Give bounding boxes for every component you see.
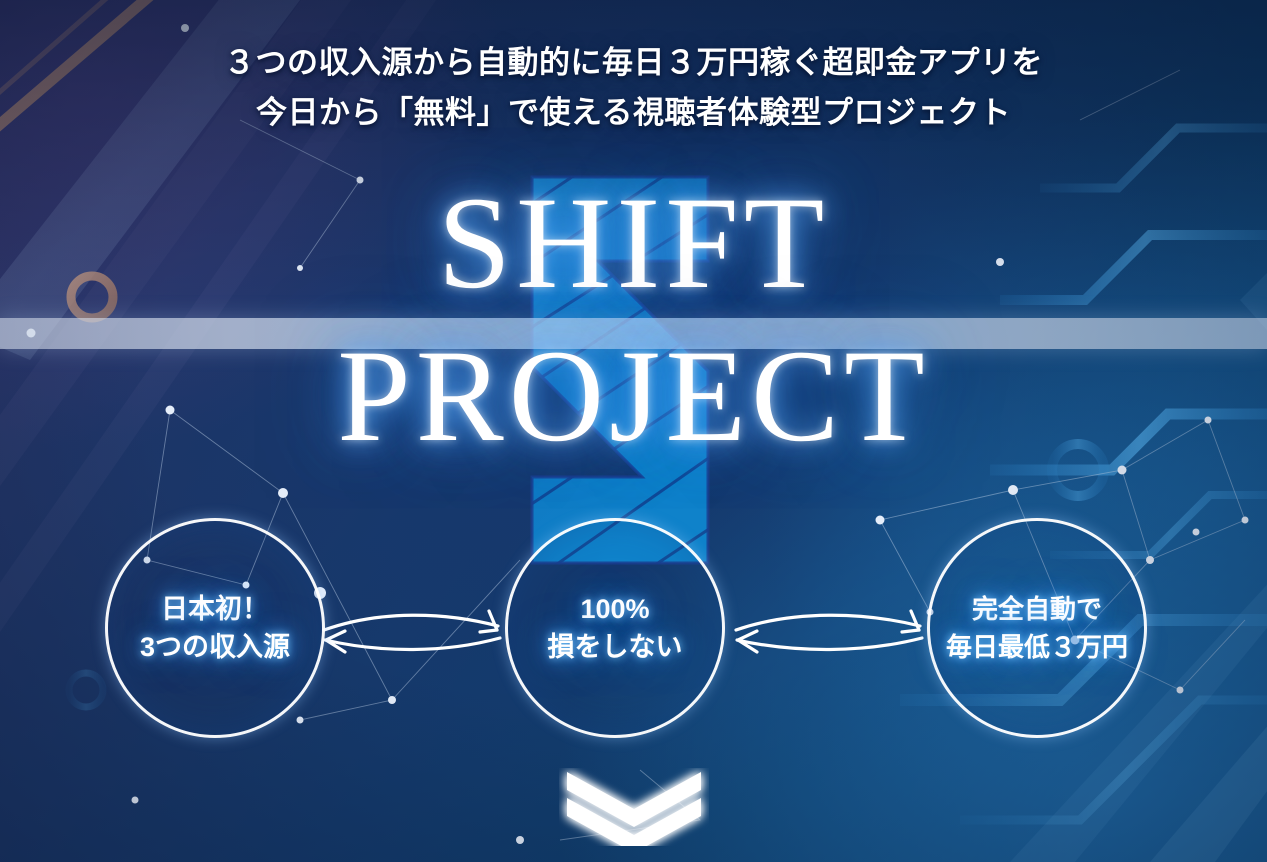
benefit-node-3-line-2: 毎日最低３万円: [946, 628, 1128, 666]
headline: ３つの収入源から自動的に毎日３万円稼ぐ超即金アプリを 今日から「無料」で使える視…: [0, 38, 1267, 138]
benefit-node-3-line-1: 完全自動で: [946, 590, 1128, 628]
benefit-node-3-text: 完全自動で 毎日最低３万円: [946, 590, 1128, 666]
benefit-node-1-line-1: 日本初！: [140, 590, 290, 628]
horizontal-light-band: [0, 318, 1267, 349]
headline-line-1: ３つの収入源から自動的に毎日３万円稼ぐ超即金アプリを: [0, 38, 1267, 88]
benefit-node-3[interactable]: 完全自動で 毎日最低３万円: [927, 518, 1147, 738]
benefit-node-2-line-1: 100%: [548, 590, 683, 628]
hero-section: ３つの収入源から自動的に毎日３万円稼ぐ超即金アプリを 今日から「無料」で使える視…: [0, 0, 1267, 862]
benefit-node-2[interactable]: 100% 損をしない: [505, 518, 725, 738]
benefit-nodes: 日本初！ 3つの収入源 100% 損をしない 完全自動で 毎日最低３万円: [0, 518, 1267, 748]
benefit-node-2-line-2: 損をしない: [548, 628, 683, 666]
benefit-node-1[interactable]: 日本初！ 3つの収入源: [105, 518, 325, 738]
benefit-node-1-line-2: 3つの収入源: [140, 628, 290, 666]
double-chevron-down-icon[interactable]: [559, 768, 709, 846]
headline-line-2: 今日から「無料」で使える視聴者体験型プロジェクト: [0, 88, 1267, 138]
benefit-node-2-text: 100% 損をしない: [548, 590, 683, 666]
benefit-node-1-text: 日本初！ 3つの収入源: [140, 590, 290, 666]
